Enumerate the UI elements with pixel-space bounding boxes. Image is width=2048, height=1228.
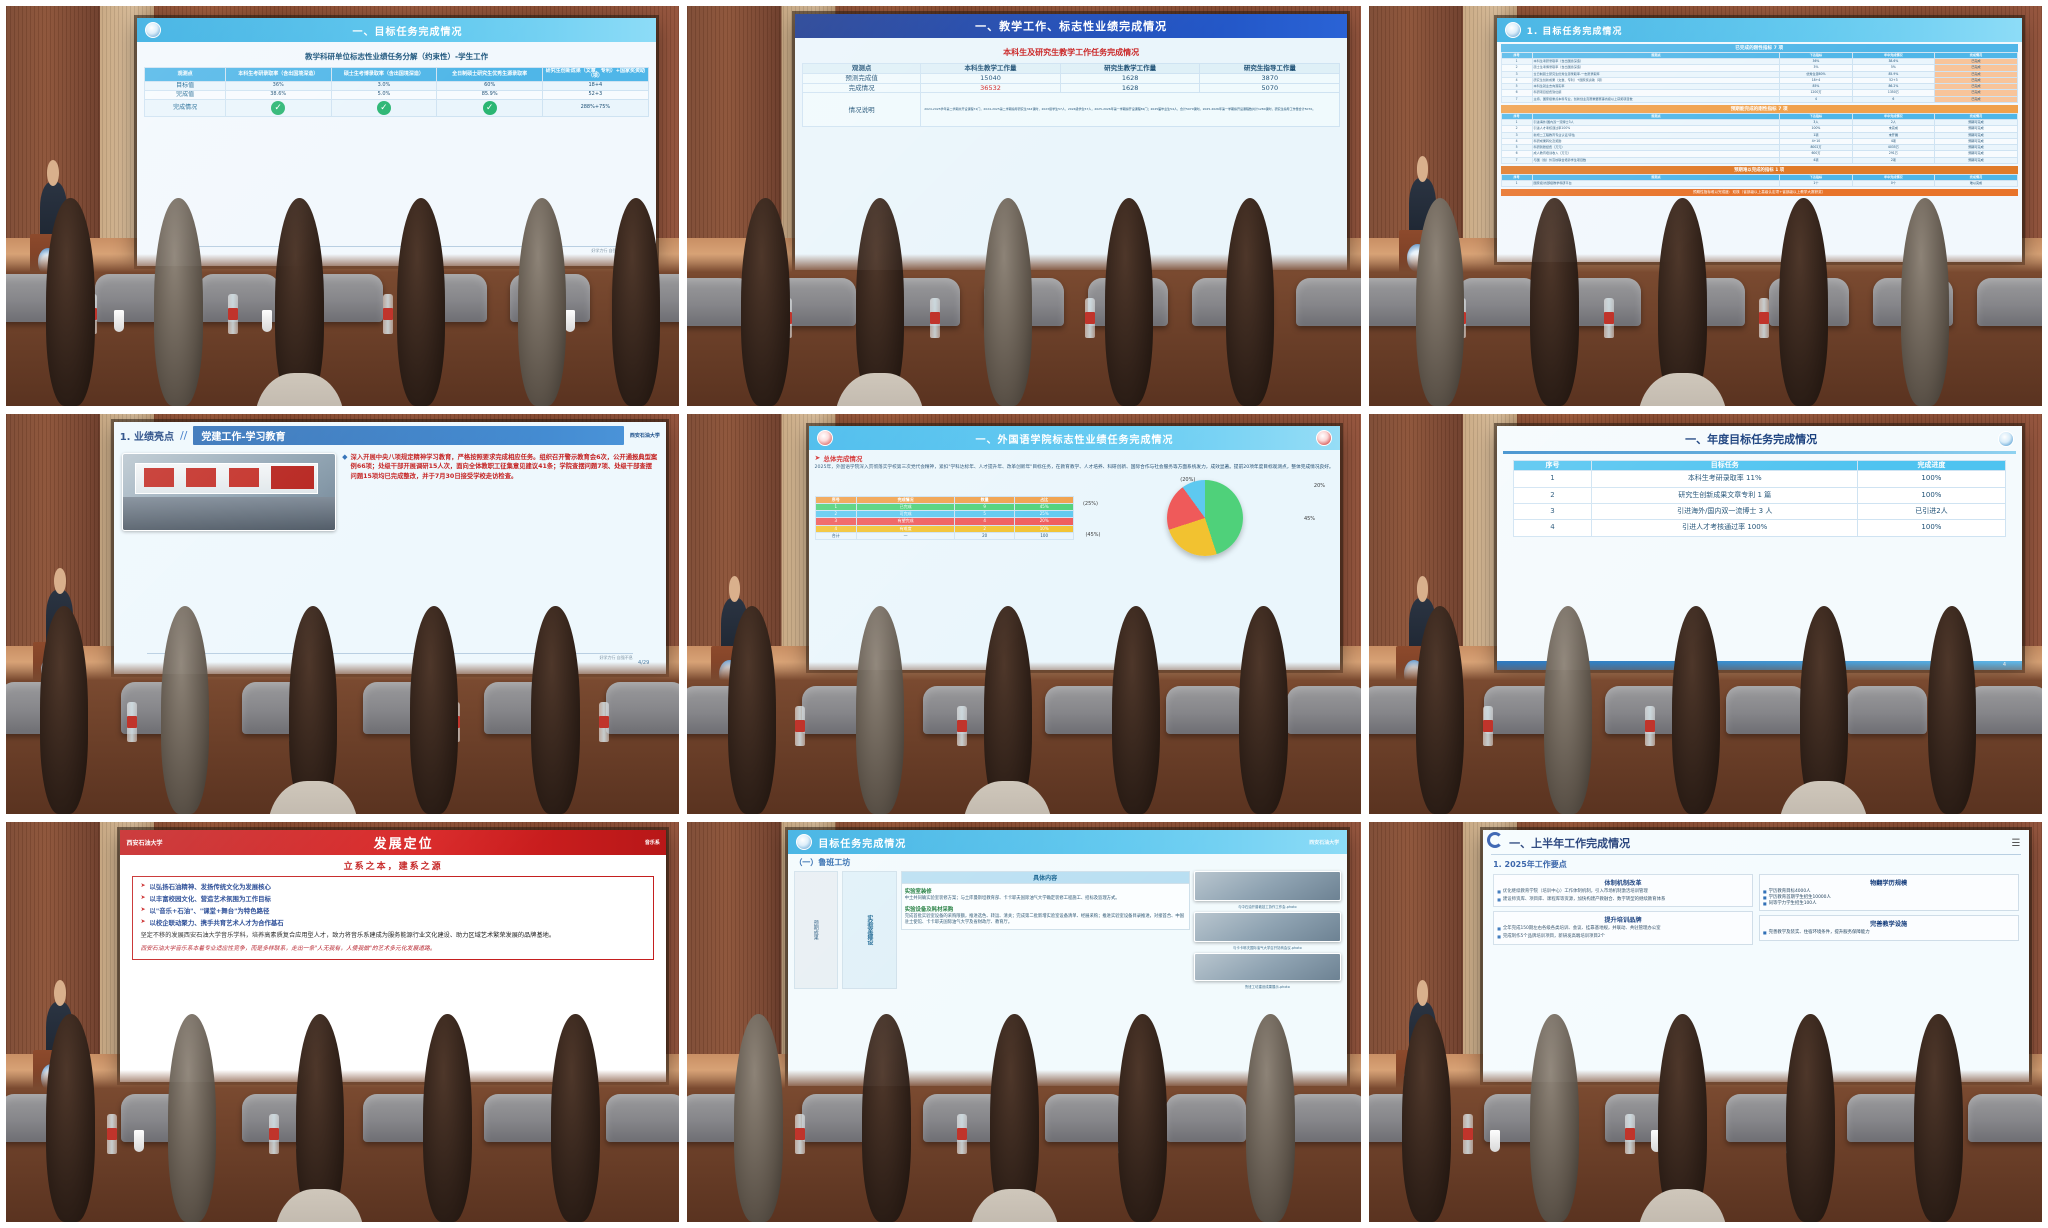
table-row: 完成值 38.6% 5.0% 85.9% 52+3 — [145, 90, 648, 99]
check-icon: ✓ — [377, 101, 391, 115]
chevron-bullet-icon: ➤ — [140, 918, 145, 925]
audience-head — [275, 198, 323, 406]
music-department-logo-icon: 音乐系 — [645, 839, 660, 846]
cell-no: 3 — [815, 518, 856, 525]
water-bottle — [957, 1114, 967, 1154]
audience-head — [1928, 606, 1976, 814]
cell-target: 引进人才考核通过率 100% — [1592, 520, 1858, 536]
chair — [1045, 1094, 1125, 1142]
bullet-text: 以丰富校园文化、营造艺术氛围为工作目标 — [149, 894, 270, 903]
chevron-bullet-icon: ➤ — [140, 906, 145, 913]
cell-value: 85.9% — [437, 90, 543, 99]
pie-label-3: (20%) — [1180, 477, 1195, 483]
list-item: 优化继续教育学院（培训中心）工作体制机制，引入市场机制激活培训管理 — [1503, 889, 1648, 895]
water-bottle — [930, 298, 940, 338]
photo-caption: 与卡卡耶夫国际油气大学召开协商会议-photo — [1194, 945, 1342, 950]
table-header-row: 观测点 本科生教学工作量 研究生教学工作量 研究生指导工作量 — [803, 64, 1340, 74]
slide-header: 目标任务完成情况 — [818, 835, 1303, 850]
audience-head — [423, 1014, 471, 1222]
table-row: 1本科生考研录取率 11%100% — [1513, 471, 2005, 487]
slide-header: 一、年度目标任务完成情况 — [1505, 431, 1998, 447]
square-bullet-icon: ■ — [1497, 934, 1501, 940]
slide-paragraph: 2025年，外国语学院深入贯彻落实学校第三次党代会精神，紧扣"学科达标年、人才提… — [815, 465, 1335, 472]
table-row: 1国家级/省部级教学科研平台1个0个难以完成 — [1501, 180, 2017, 186]
cell-dash: — — [856, 532, 954, 539]
list-item: ➤ 以丰富校园文化、营造艺术氛围为工作目标 — [140, 894, 645, 903]
bullet-text: 以"音乐+石油"、"课堂+舞台"为特色路径 — [149, 906, 269, 915]
table-row: 3引进海外/国内双一流博士 3 人已引进2人 — [1513, 504, 2005, 520]
table-row: 完成情况 36532 1628 5070 — [803, 83, 1340, 93]
cell-no: 1 — [1501, 180, 1532, 186]
audience-head — [1658, 198, 1706, 406]
column-title: 提升培训品牌 — [1497, 915, 1749, 924]
audience-head — [1530, 198, 1578, 406]
water-bottle — [1463, 1114, 1473, 1154]
water-bottle — [383, 294, 393, 334]
cell-midyear: 2项 — [1852, 157, 1935, 163]
university-wordmark-icon — [817, 430, 833, 446]
col-grad-workload: 研究生教学工作量 — [1060, 64, 1200, 74]
audience-head — [1672, 606, 1720, 814]
slide-section: （一）鲁班工坊 — [794, 857, 1341, 868]
paper-cup — [134, 1130, 144, 1152]
list-item: ➤ 以弘扬石油精神、发扬传统文化为发展核心 — [140, 882, 645, 891]
column-title: 完善教学设施 — [1763, 919, 2015, 928]
list-item: ➤ 以"音乐+石油"、"课堂+舞台"为特色路径 — [140, 906, 645, 915]
cell-total-share: 100 — [1014, 532, 1074, 539]
chair — [1977, 278, 2042, 326]
cell-status: 有难度 — [856, 525, 954, 532]
section-title: 1. 2025年工作要点 — [1483, 859, 2028, 874]
audience-head — [1402, 1014, 1450, 1222]
table-row: 预测完成值 15040 1628 3870 — [803, 73, 1340, 83]
slide-header: 发展定位 — [167, 833, 639, 852]
col-progress: 完成进度 — [1858, 461, 2006, 471]
pie-graphic — [1167, 480, 1243, 556]
photo-caption: 与中石油开普敦技工协作工作会-photo — [1194, 904, 1342, 909]
chair — [1968, 686, 2042, 734]
audience-head — [46, 1014, 94, 1222]
cell-label: 完成情况 — [803, 83, 921, 93]
paper-cup — [1490, 1130, 1500, 1152]
cell-no: 4 — [815, 525, 856, 532]
list-item: 完成首批实验室设备的采购限额，推进选色、转运、清关；完成第二批新增实验室设备清单… — [905, 914, 1186, 926]
chair — [1458, 278, 1538, 326]
table-row: 7与国（境）外高校联合培养学生项目数4项2项预期可完成 — [1501, 157, 2017, 163]
diamond-bullet-icon: ◆ — [342, 453, 347, 481]
slide-header: 一、目标任务完成情况 — [167, 23, 647, 38]
slide-subtitle: 本科生及研究生教学工作任务完成情况 — [802, 47, 1340, 58]
arc-decoration-icon — [1487, 832, 1503, 848]
water-bottle — [1625, 1114, 1635, 1154]
university-emblem-icon — [1316, 430, 1332, 446]
water-bottle — [1483, 706, 1493, 746]
cell-count: 5 — [955, 511, 1015, 518]
list-item: ➤ 以校企联动聚力、携手共育艺术人才为合作基石 — [140, 918, 645, 927]
audience-head — [984, 198, 1032, 406]
water-bottle — [957, 706, 967, 746]
slide-header: 一、上半年工作完成情况 — [1509, 835, 2006, 851]
table-row: 目标值 36% 3.0% 60% 18+4 — [145, 81, 648, 90]
audience-head — [1658, 1014, 1706, 1222]
slide-header: 1. 目标任务完成情况 — [1527, 24, 2014, 37]
square-bullet-icon: ■ — [1497, 926, 1501, 932]
audience-head — [1105, 198, 1153, 406]
audience-head — [1914, 1014, 1962, 1222]
annual-target-table: 序号 目标任务 完成进度 1本科生考研录取率 11%100% 2研究生创新成果文… — [1513, 460, 2006, 537]
cell-status-ok: ✓ — [437, 100, 543, 117]
audience-head — [612, 198, 660, 406]
cell-status: 已完成 — [1935, 96, 2018, 102]
square-bullet-icon: ■ — [1497, 889, 1501, 895]
cell-status: 难以完成 — [1935, 180, 2018, 186]
cell-note-label: 情况说明 — [803, 93, 921, 127]
slide-header: 一、外国语学院标志性业绩任务完成情况 — [839, 431, 1311, 446]
photo-panel-5: 一、外国语学院标志性业绩任务完成情况 ➤ 总体完成情况 2025年，外国语学院深… — [687, 414, 1360, 814]
square-bullet-icon: ■ — [1763, 930, 1767, 936]
completion-summary-table: 序号 完成情况 数量 占比 1已完成945% 2可完成525% 3有望完成420… — [815, 496, 1075, 540]
slide-header-right: 党建工作-学习教育 — [193, 426, 623, 445]
col-target: 目标任务 — [1592, 461, 1858, 471]
university-emblem-icon — [1505, 22, 1521, 38]
cell-progress: 100% — [1858, 487, 2006, 503]
audience-head — [1544, 606, 1592, 814]
audience-head — [862, 1014, 910, 1222]
audience-head — [1246, 1014, 1294, 1222]
party-building-room-photo — [122, 453, 336, 531]
slide-header-banner: 西安石油大学 发展定位 音乐系 — [120, 830, 665, 855]
cell-value: 5.0% — [331, 90, 437, 99]
chair — [1726, 686, 1806, 734]
cell-status-ok: ✓ — [331, 100, 437, 117]
cell-value: 60% — [437, 81, 543, 90]
meeting-photo-2 — [1194, 912, 1342, 942]
col-lab-construction-label: 实验室建设 — [842, 871, 897, 989]
section-title: 总体完成情况 — [823, 453, 862, 463]
cell-value: 38.6% — [225, 90, 331, 99]
table-header-row: 观测点 本科生考研录取率（含出国境深造） 硕士生考博录取率（含出国境深造） 全日… — [145, 68, 648, 82]
cell-share: 45% — [1014, 503, 1074, 510]
meeting-photo-1 — [1194, 871, 1342, 901]
audience-head — [1901, 198, 1949, 406]
check-icon: ✓ — [271, 101, 285, 115]
table-row: 3有望完成420% — [815, 518, 1074, 525]
table-row: 2可完成525% — [815, 511, 1074, 518]
col-ug-workload: 本科生教学工作量 — [921, 64, 1061, 74]
arrow-bullet-icon: ➤ — [815, 454, 821, 462]
table-row: 4引进人才考核通过率 100%100% — [1513, 520, 2005, 536]
slide-body-text: 深入开展中央八项规定精神学习教育，严格按照要求完成相应任务。组织召开警示教育会6… — [351, 453, 658, 481]
check-icon: ✓ — [483, 101, 497, 115]
paper-cup — [565, 310, 575, 332]
pie-label-2: (25%) — [1083, 501, 1098, 507]
water-bottle — [795, 706, 805, 746]
performance-table: 观测点 本科生考研录取率（含出国境深造） 硕士生考博录取率（含出国境深造） 全日… — [144, 67, 648, 117]
cell-value-highlight: 36532 — [921, 83, 1061, 93]
slide-paragraph: 坚定不移的发展西安石油大学音乐学科，培养高素质复合应用型人才，致力将音乐系建成为… — [140, 931, 645, 941]
pie-label-1: (45%) — [1085, 532, 1100, 538]
cell-no: 4 — [1513, 520, 1592, 536]
audience-head — [289, 606, 337, 814]
chair — [1166, 1094, 1246, 1142]
square-bullet-icon: ■ — [1497, 897, 1501, 903]
seat-row-back — [6, 274, 679, 322]
cell-observation: 主持、国家级重点本科专业，创新创业竞赛重要赛事省级以上获奖项目数 — [1532, 96, 1780, 102]
audience-head — [1800, 606, 1848, 814]
list-item: 中土共同确实验室装修方案；与土库曼斯坦教育部、卡卡耶夫国际油气大学确定装修工程施… — [905, 896, 1186, 902]
cell-count: 2 — [955, 525, 1015, 532]
cell-total-count: 20 — [955, 532, 1015, 539]
bullet-text: 以校企联动聚力、携手共育艺术人才为合作基石 — [149, 918, 283, 927]
rigid-indicator-table-2: 序号 观测点 下达指标 年中完成情况 完成情况 1引进海外/国内双一流博士3人3… — [1501, 113, 2018, 164]
table-row: 7主持、国家级重点本科专业，创新创业竞赛重要赛事省级以上获奖项目数46已完成 — [1501, 96, 2017, 102]
cell-value: 52+3 — [543, 90, 649, 99]
water-bottle — [1085, 298, 1095, 338]
audience-head — [1416, 606, 1464, 814]
teaching-workload-table: 观测点 本科生教学工作量 研究生教学工作量 研究生指导工作量 预测完成值 150… — [802, 63, 1340, 127]
university-wordmark-icon: 西安石油大学 — [630, 432, 660, 439]
cell-midyear: 0个 — [1852, 180, 1935, 186]
audience-head — [1786, 1014, 1834, 1222]
cell-status: 预期可完成 — [1935, 157, 2018, 163]
audience-head — [46, 198, 94, 406]
cell-no: 2 — [815, 511, 856, 518]
cell-value: 18+4 — [543, 81, 649, 90]
water-bottle — [269, 1114, 279, 1154]
university-emblem-icon — [796, 834, 812, 850]
water-bottle — [1759, 298, 1769, 338]
cell-value: 3870 — [1200, 73, 1340, 83]
audience-head — [1239, 606, 1287, 814]
water-bottle — [1604, 298, 1614, 338]
paper-cup — [262, 310, 272, 332]
cell-status: 已完成 — [856, 503, 954, 510]
cell-share: 20% — [1014, 518, 1074, 525]
table-row-total: 合计—20100 — [815, 532, 1074, 539]
audience-head — [734, 1014, 782, 1222]
photo-panel-3: 1. 目标任务完成情况 已完成的刚性指标 7 项 序号 观测点 下达指标 年中完… — [1369, 6, 2042, 406]
cell-label: 完成情况 — [145, 100, 226, 117]
water-bottle — [599, 702, 609, 742]
cell-count: 4 — [955, 518, 1015, 525]
audience-head — [856, 606, 904, 814]
col-expected-outcome-label: 预期成果 — [794, 871, 838, 989]
audience-head — [397, 198, 445, 406]
audience-head — [1118, 1014, 1166, 1222]
slide-footer-note: 预期性指标难以完成度：双核（省部级以上高级认定项+省部级以上教学大赛获奖） — [1501, 189, 2018, 196]
photo-panel-6: 一、年度目标任务完成情况 序号 目标任务 完成进度 1本科生考研录取率 11%1… — [1369, 414, 2042, 814]
col-innovation: 研究生创新成果（文章、专利）+国家奖资助（项） — [543, 68, 649, 82]
slash-divider-icon: // — [180, 429, 187, 442]
col-observation: 观测点 — [803, 64, 921, 74]
cell-note-text: 2024-2025学年第二学期共开设课程72门，2024-2025第二学期指导研… — [921, 93, 1340, 127]
cell-observation: 国家级/省部级教学科研平台 — [1532, 180, 1780, 186]
audience-head — [728, 606, 776, 814]
table-row: 完成情况 ✓ ✓ ✓ 288%+75% — [145, 100, 648, 117]
university-wordmark-icon: 西安石油大学 — [1309, 839, 1339, 846]
cell-no: 7 — [1501, 96, 1532, 102]
chair — [1287, 1094, 1361, 1142]
cell-label: 完成值 — [145, 90, 226, 99]
list-item: 建设师资库、项目库、课程库等资源，加快构建产教融合、数字转型的继续教育体系 — [1503, 897, 1665, 903]
audience-head — [168, 1014, 216, 1222]
table-row-note: 情况说明 2024-2025学年第二学期共开设课程72门，2024-2025第二… — [803, 93, 1340, 127]
pie-label-center: 45% — [1304, 516, 1315, 522]
university-wordmark-icon: 西安石油大学 — [126, 838, 162, 847]
photo-panel-2: 一、教学工作、标志性业绩完成情况 本科生及研究生教学工作任务完成情况 观测点 本… — [687, 6, 1360, 406]
table-header-row: 序号 目标任务 完成进度 — [1513, 461, 2005, 471]
cell-value: 15040 — [921, 73, 1061, 83]
table-row: 1已完成945% — [815, 503, 1074, 510]
chair — [1847, 686, 1927, 734]
audience-head — [1112, 606, 1160, 814]
chevron-bullet-icon: ➤ — [140, 894, 145, 901]
slide-header-left: 1. 业绩亮点 — [120, 428, 174, 443]
table-header-row: 序号 完成情况 数量 占比 — [815, 496, 1074, 503]
photo-collage-grid: 一、目标任务完成情况 教学科研单位标志性业绩任务分解（约束性）-学生工作 观测点… — [0, 0, 2048, 1228]
bullet-text: 以弘扬石油精神、发扬传统文化为发展核心 — [149, 882, 270, 891]
section-title-completed: 已完成的刚性指标 7 项 — [1501, 44, 2018, 52]
section-title-expected: 预期能完成的刚性指标 7 项 — [1501, 105, 2018, 113]
list-item: 完成制作5个品牌培训项目，新研发高端培训项目2个 — [1503, 934, 1605, 940]
photo-panel-7: 西安石油大学 发展定位 音乐系 立系之本，建系之源 ➤ 以弘扬石油精神、发扬传统… — [6, 822, 679, 1222]
table-row: 4有难度210% — [815, 525, 1074, 532]
list-item: 实验设备及耗材采购 — [905, 905, 1186, 913]
water-bottle — [1645, 706, 1655, 746]
audience-head — [296, 1014, 344, 1222]
audience-head — [741, 198, 789, 406]
cell-progress: 100% — [1858, 471, 2006, 487]
chair — [1296, 278, 1361, 326]
list-item: 实验室装修 — [905, 887, 1186, 895]
cell-no: 1 — [1513, 471, 1592, 487]
photo-panel-4: 1. 业绩亮点 // 党建工作-学习教育 西安石油大学 ◆ 深入开展 — [6, 414, 679, 814]
cell-label: 目标值 — [145, 81, 226, 90]
audience-head — [1530, 1014, 1578, 1222]
university-emblem-icon — [145, 22, 161, 38]
audience-head — [551, 1014, 599, 1222]
chair — [1287, 686, 1361, 734]
chair — [1968, 1094, 2042, 1142]
col-master-phd: 硕士生考博录取率（含出国境深造） — [331, 68, 437, 82]
list-item: 同等学力学生招生100人 — [1769, 901, 1817, 907]
meeting-photo-3 — [1194, 953, 1342, 981]
cell-midyear: 6 — [1852, 96, 1935, 102]
cell-share: 25% — [1014, 511, 1074, 518]
audience-head — [154, 198, 202, 406]
list-item: 全年完成150期左右各级各类培训、会议、挂靠基地规，并联动、共驻管理办公室 — [1503, 926, 1661, 932]
table-row: 2研究生创新成果文章专利 1 篇100% — [1513, 487, 2005, 503]
cell-status: 有望完成 — [856, 518, 954, 525]
slide-motto: 立系之本，建系之源 — [120, 855, 665, 874]
water-bottle — [127, 702, 137, 742]
cell-target: 4项 — [1780, 157, 1852, 163]
audience-head — [984, 606, 1032, 814]
audience-head — [1779, 198, 1827, 406]
cell-share: 10% — [1014, 525, 1074, 532]
col-no: 序号 — [1513, 461, 1592, 471]
col-fulltime: 全日制硕士研究生优秀生源录取率 — [437, 68, 543, 82]
photo-panel-1: 一、目标任务完成情况 教学科研单位标志性业绩任务分解（约束性）-学生工作 观测点… — [6, 6, 679, 406]
projection-screen: 1. 目标任务完成情况 已完成的刚性指标 7 项 序号 观测点 下达指标 年中完… — [1497, 18, 2022, 262]
photo-caption: 鲁班工坊建设成果展示-photo — [1194, 984, 1342, 989]
table-header: 具体内容 — [901, 871, 1190, 884]
cell-total-label: 合计 — [815, 532, 856, 539]
cell-target: 引进海外/国内双一流博士 3 人 — [1592, 504, 1858, 520]
rigid-indicator-table-3: 序号 观测点 下达指标 年中完成情况 完成情况 1国家级/省部级教学科研平台1个… — [1501, 174, 2018, 187]
audience-head — [1416, 198, 1464, 406]
cell-status-ok: ✓ — [225, 100, 331, 117]
audience-head — [990, 1014, 1038, 1222]
square-bullet-icon: ■ — [1763, 901, 1767, 907]
chair — [606, 1094, 680, 1142]
paper-cup — [114, 310, 124, 332]
hamburger-menu-icon[interactable]: ☰ — [2012, 838, 2021, 849]
projection-screen: 一、目标任务完成情况 教学科研单位标志性业绩任务分解（约束性）-学生工作 观测点… — [137, 18, 655, 266]
col-supervision: 研究生指导工作量 — [1200, 64, 1340, 74]
cell-target: 研究生创新成果文章专利 1 篇 — [1592, 487, 1858, 503]
cell-observation: 与国（境）外高校联合培养学生项目数 — [1532, 157, 1780, 163]
photo-panel-8: 目标任务完成情况 西安石油大学 （一）鲁班工坊 预期成果 实验室建设 具体内容 … — [687, 822, 1360, 1222]
col-no: 序号 — [815, 496, 856, 503]
slide-subtitle: 教学科研单位标志性业绩任务分解（约束性）-学生工作 — [144, 51, 648, 62]
cell-no: 1 — [815, 503, 856, 510]
chair — [1166, 686, 1246, 734]
cell-label: 预测完成值 — [803, 73, 921, 83]
cell-target: 本科生考研录取率 11% — [1592, 471, 1858, 487]
completion-pie-chart: (45%) (25%) (20%) 20% 45% — [1080, 475, 1330, 561]
university-emblem-icon — [1998, 431, 2014, 447]
cell-no: 2 — [1513, 487, 1592, 503]
column-title: 物翻学历规模 — [1763, 878, 2015, 887]
cell-status: 可完成 — [856, 511, 954, 518]
cell-value: 3.0% — [331, 81, 437, 90]
audience-head — [518, 198, 566, 406]
column-title: 体制机制改革 — [1497, 878, 1749, 887]
list-item: 完善教学及装实、住宿环境条件，提升服务保障能力 — [1769, 930, 1870, 936]
slide-italic-note: 西安石油大学音乐系本着专业适应性竞争，而是多样联系，走出一条"人无我有，人傻我做… — [140, 945, 645, 954]
cell-target: 4 — [1780, 96, 1852, 102]
cell-progress: 100% — [1858, 520, 2006, 536]
cell-value: 1628 — [1060, 73, 1200, 83]
audience-head — [531, 606, 579, 814]
cell-target: 1个 — [1780, 180, 1852, 186]
audience-head — [410, 606, 458, 814]
cell-no: 3 — [1513, 504, 1592, 520]
water-bottle — [107, 1114, 117, 1154]
photo-panel-9: 一、上半年工作完成情况 ☰ 1. 2025年工作要点 体制机制改革 ■ 优化继续… — [1369, 822, 2042, 1222]
pie-label-4: 20% — [1314, 483, 1325, 489]
col-ug-exam: 本科生考研录取率（含出国境深造） — [225, 68, 331, 82]
cell-no: 7 — [1501, 157, 1532, 163]
cell-value: 1628 — [1060, 83, 1200, 93]
slide-header: 一、教学工作、标志性业绩完成情况 — [803, 18, 1339, 34]
header-rule — [1491, 854, 2020, 855]
col-count: 数量 — [955, 496, 1015, 503]
audience-head — [40, 606, 88, 814]
cell-value: 5070 — [1200, 83, 1340, 93]
water-bottle — [795, 1114, 805, 1154]
cell-progress: 已引进2人 — [1858, 504, 2006, 520]
audience-head — [1226, 198, 1274, 406]
audience-head — [856, 198, 904, 406]
chair — [606, 682, 680, 734]
water-bottle — [228, 294, 238, 334]
col-share: 占比 — [1014, 496, 1074, 503]
chevron-bullet-icon: ➤ — [140, 882, 145, 889]
rigid-indicator-table-1: 序号 观测点 下达指标 年中完成情况 完成情况 1本科生考研录取率（含出国境深造… — [1501, 52, 2018, 103]
section-title-difficult: 预期难以完成的指标 1 项 — [1501, 166, 2018, 174]
